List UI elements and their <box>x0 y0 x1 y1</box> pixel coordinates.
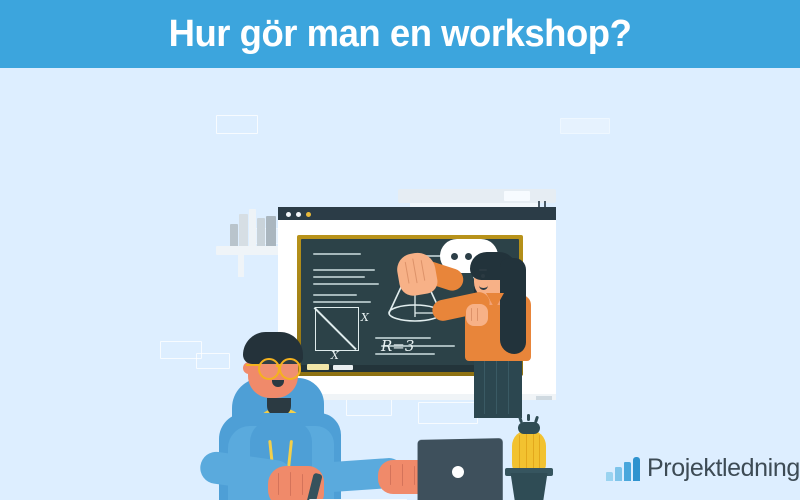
bubble-dot <box>451 253 458 260</box>
background-ghost-box <box>418 402 478 424</box>
ceiling-rail <box>398 189 556 203</box>
presenter-hair-side <box>500 258 526 354</box>
finger-crease <box>477 308 478 321</box>
glasses-left-lens-icon <box>258 358 280 380</box>
background-ghost-box <box>560 118 610 134</box>
glasses-bridge <box>276 365 281 367</box>
page-title: Hur gör man en workshop? <box>169 13 632 56</box>
finger-crease <box>302 474 303 495</box>
bubble-dot <box>465 253 472 260</box>
finger-crease <box>414 466 415 485</box>
chalk-line <box>313 269 375 271</box>
finger-crease <box>278 473 279 495</box>
finger-crease <box>421 260 426 281</box>
site-logo[interactable]: Projektledning <box>606 456 800 481</box>
rail-fixture <box>504 191 530 201</box>
chalk-line <box>313 294 357 296</box>
plant-pot <box>508 473 550 500</box>
board-eraser <box>333 365 353 370</box>
presenter-eye <box>481 274 485 278</box>
glasses-right-lens-icon <box>279 358 301 380</box>
finger-crease <box>405 262 410 284</box>
cactus-rib <box>526 433 527 473</box>
chalk-line <box>313 253 361 255</box>
cactus-rib <box>519 435 520 471</box>
chalk-line <box>313 283 379 285</box>
window-maximize-dot-icon[interactable] <box>306 212 311 217</box>
presenter-eyebrow <box>479 269 487 271</box>
glasses-temple-arm <box>246 364 259 366</box>
browser-titlebar <box>278 207 556 220</box>
finger-crease <box>471 308 472 321</box>
presenter-fist <box>466 304 488 326</box>
chalk-stick <box>307 364 329 370</box>
chalk-line <box>313 276 365 278</box>
cactus-rib <box>533 433 534 473</box>
shelf-book <box>239 214 248 246</box>
shelf-book <box>266 216 276 246</box>
window-close-dot-icon[interactable] <box>286 212 291 217</box>
browser-resize-handle[interactable] <box>536 396 552 400</box>
shelf-book <box>249 209 256 246</box>
wall-shelf <box>216 246 286 255</box>
illustration-stage: X X R=3 R= 10 h <box>0 68 800 500</box>
cactus-spike <box>534 416 539 424</box>
page-root: Hur gör man en workshop? <box>0 0 800 500</box>
window-minimize-dot-icon[interactable] <box>296 212 301 217</box>
cactus-rib <box>539 435 540 471</box>
logo-bar <box>615 467 622 481</box>
background-ghost-box <box>216 115 258 134</box>
finger-crease <box>412 258 418 283</box>
chalk-label-side-right: X <box>361 311 369 324</box>
logo-bar-chart-icon <box>606 457 640 481</box>
cactus-spike <box>518 416 523 424</box>
logo-bar <box>624 462 631 481</box>
finger-crease <box>390 465 391 485</box>
logo-bar <box>633 457 640 481</box>
finger-crease <box>402 464 403 486</box>
chalk-label-radius-small: R=3 <box>381 337 414 355</box>
cactus-spike <box>527 414 530 421</box>
laptop-logo-icon <box>452 466 464 478</box>
chalk-line <box>313 301 371 303</box>
logo-text: Projektledning <box>647 456 800 481</box>
shelf-book <box>257 218 265 246</box>
chalk-label-side-bottom: X <box>331 349 339 362</box>
shelf-book <box>230 224 238 246</box>
logo-bar <box>606 472 613 481</box>
background-ghost-box <box>196 353 230 369</box>
finger-crease <box>290 472 291 496</box>
cactus-crown <box>518 422 540 434</box>
header-banner: Hur gör man en workshop? <box>0 0 800 68</box>
chalk-square-diagram <box>315 307 359 351</box>
